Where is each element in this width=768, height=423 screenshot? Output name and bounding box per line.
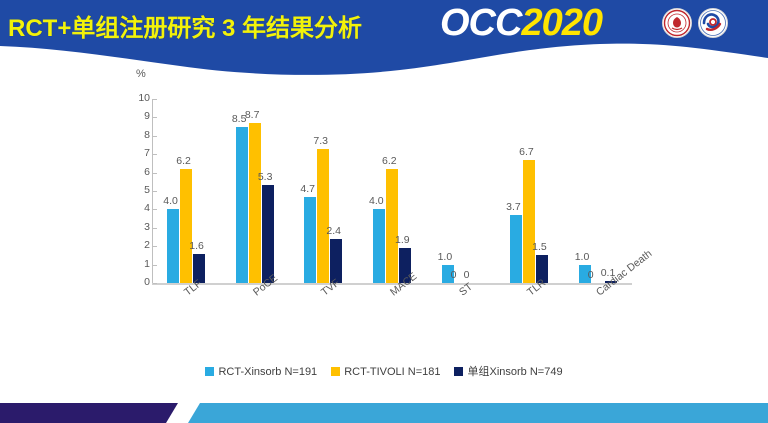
page-title: RCT+单组注册研究 3 年结果分析 bbox=[8, 8, 362, 43]
bar-mace-series1[interactable] bbox=[373, 209, 385, 283]
slide-canvas: RCT+单组注册研究 3 年结果分析 OCC2020 % 01234567891… bbox=[0, 0, 768, 423]
y-tick-label-7: 7 bbox=[120, 148, 150, 158]
y-tick-mark bbox=[153, 283, 157, 284]
y-tick-label-3: 3 bbox=[120, 222, 150, 232]
legend-item-2[interactable]: RCT-TIVOLI N=181 bbox=[331, 366, 440, 378]
data-label-st-series3: 0 bbox=[464, 270, 470, 281]
legend-item-3[interactable]: 单组Xinsorb N=749 bbox=[454, 363, 562, 379]
legend-swatch-icon-3 bbox=[454, 367, 463, 376]
occ-logo: OCC2020 bbox=[440, 2, 602, 44]
bar-tlr-series2[interactable] bbox=[523, 160, 535, 283]
y-tick-label-6: 6 bbox=[120, 167, 150, 177]
data-label-cardiac-death-series2: 0 bbox=[588, 270, 594, 281]
y-tick-mark bbox=[153, 191, 157, 192]
footer-left-bar bbox=[0, 403, 178, 423]
bar-chart: % 012345678910 4.06.21.68.58.75.34.77.32… bbox=[0, 58, 768, 368]
data-label-tlr-series2: 6.7 bbox=[519, 147, 534, 158]
data-label-mace-series1: 4.0 bbox=[369, 196, 384, 207]
data-label-tlr-series1: 3.7 bbox=[506, 202, 521, 213]
bar-group-mace: 4.06.21.9 bbox=[373, 99, 411, 283]
bar-tvf-series1[interactable] bbox=[304, 197, 316, 283]
legend-item-1[interactable]: RCT-Xinsorb N=191 bbox=[205, 366, 317, 378]
y-tick-mark bbox=[153, 209, 157, 210]
y-tick-label-9: 9 bbox=[120, 111, 150, 121]
bar-group-st: 1.000 bbox=[442, 99, 480, 283]
footer-shape bbox=[0, 398, 768, 423]
y-tick-mark bbox=[153, 136, 157, 137]
y-tick-mark bbox=[153, 173, 157, 174]
y-tick-mark bbox=[153, 117, 157, 118]
y-tick-mark bbox=[153, 99, 157, 100]
bar-group-cardiac-death: 1.000.1 bbox=[579, 99, 617, 283]
legend-label-3: 单组Xinsorb N=749 bbox=[467, 366, 562, 378]
bar-group-tlr: 3.76.71.5 bbox=[510, 99, 548, 283]
occ-logo-main: OCC bbox=[440, 2, 521, 44]
bar-group-tvf: 4.77.32.4 bbox=[304, 99, 342, 283]
data-label-tlf-series3: 1.6 bbox=[189, 241, 204, 252]
y-tick-label-1: 1 bbox=[120, 259, 150, 269]
bar-poce-series2[interactable] bbox=[249, 123, 261, 283]
y-tick-label-5: 5 bbox=[120, 185, 150, 195]
data-label-poce-series3: 5.3 bbox=[258, 172, 273, 183]
legend-label-2: RCT-TIVOLI N=181 bbox=[344, 366, 440, 378]
bar-poce-series1[interactable] bbox=[236, 127, 248, 283]
data-label-tvf-series1: 4.7 bbox=[300, 184, 315, 195]
y-tick-mark bbox=[153, 265, 157, 266]
data-label-tlf-series1: 4.0 bbox=[163, 196, 178, 207]
legend-swatch-icon-1 bbox=[205, 367, 214, 376]
bar-tlf-series1[interactable] bbox=[167, 209, 179, 283]
bar-tvf-series2[interactable] bbox=[317, 149, 329, 283]
y-tick-label-2: 2 bbox=[120, 240, 150, 250]
data-label-mace-series2: 6.2 bbox=[382, 156, 397, 167]
y-tick-label-4: 4 bbox=[120, 203, 150, 213]
footer-right-bar bbox=[188, 403, 768, 423]
plot-area: 4.06.21.68.58.75.34.77.32.44.06.21.91.00… bbox=[152, 99, 632, 283]
congress-emblem-icon bbox=[698, 8, 728, 38]
occ-logo-year: 2020 bbox=[521, 2, 602, 44]
data-label-st-series1: 1.0 bbox=[438, 252, 453, 263]
y-tick-mark bbox=[153, 228, 157, 229]
y-tick-mark bbox=[153, 154, 157, 155]
data-label-mace-series3: 1.9 bbox=[395, 235, 410, 246]
society-emblem-icon bbox=[662, 8, 692, 38]
bar-mace-series2[interactable] bbox=[386, 169, 398, 283]
y-tick-mark bbox=[153, 246, 157, 247]
y-axis-tick-labels: 012345678910 bbox=[116, 58, 150, 368]
bar-poce-series3[interactable] bbox=[262, 185, 274, 283]
bar-tlf-series2[interactable] bbox=[180, 169, 192, 283]
bar-group-poce: 8.58.75.3 bbox=[236, 99, 274, 283]
data-label-poce-series2: 8.7 bbox=[245, 110, 260, 121]
y-tick-label-8: 8 bbox=[120, 130, 150, 140]
bar-tlr-series1[interactable] bbox=[510, 215, 522, 283]
data-label-tlf-series2: 6.2 bbox=[176, 156, 191, 167]
bar-tvf-series3[interactable] bbox=[330, 239, 342, 283]
data-label-st-series2: 0 bbox=[451, 270, 457, 281]
data-label-cardiac-death-series1: 1.0 bbox=[575, 252, 590, 263]
y-tick-label-10: 10 bbox=[120, 93, 150, 103]
footer-decoration bbox=[0, 398, 768, 423]
data-label-tvf-series2: 7.3 bbox=[313, 136, 328, 147]
legend-swatch-icon-2 bbox=[331, 367, 340, 376]
data-label-tlr-series3: 1.5 bbox=[532, 242, 547, 253]
chart-legend: RCT-Xinsorb N=191RCT-TIVOLI N=181单组Xinso… bbox=[0, 363, 768, 379]
data-label-tvf-series3: 2.4 bbox=[326, 226, 341, 237]
bar-group-tlf: 4.06.21.6 bbox=[167, 99, 205, 283]
legend-label-1: RCT-Xinsorb N=191 bbox=[218, 366, 317, 378]
y-tick-label-0: 0 bbox=[120, 277, 150, 287]
